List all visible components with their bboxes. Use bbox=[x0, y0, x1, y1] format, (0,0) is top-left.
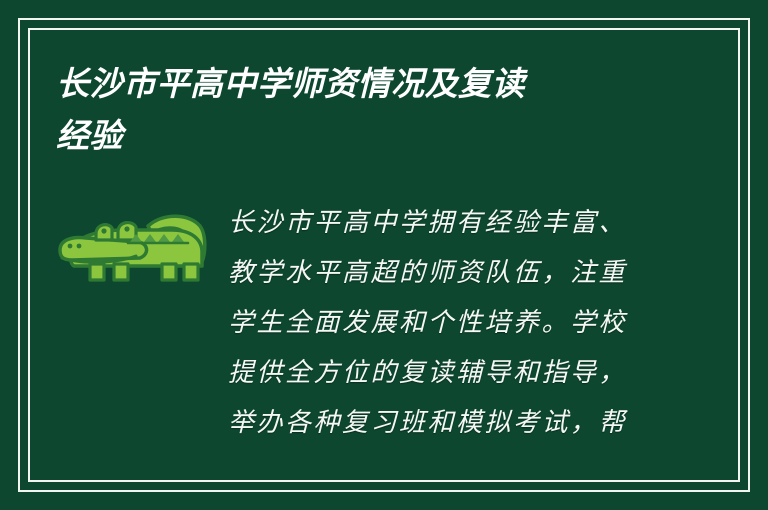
body-paragraph: 长沙市平高中学拥有经验丰富、 教学水平高超的师资队伍，注重 学生全面发展和个性培… bbox=[228, 198, 660, 448]
crocodile-icon bbox=[52, 196, 212, 292]
body-line: 提供全方位的复读辅导和指导， bbox=[228, 348, 660, 398]
body-line: 教学水平高超的师资队伍，注重 bbox=[228, 248, 660, 298]
poster-canvas: 长沙市平高中学师资情况及复读 经验 bbox=[0, 0, 768, 510]
body-line: 长沙市平高中学拥有经验丰富、 bbox=[228, 198, 660, 248]
body-line: 学生全面发展和个性培养。学校 bbox=[228, 298, 660, 348]
page-title-line-1: 长沙市平高中学师资情况及复读 bbox=[56, 58, 686, 110]
body-line: 举办各种复习班和模拟考试，帮 bbox=[228, 398, 660, 448]
page-title-line-2: 经验 bbox=[56, 110, 686, 162]
page-title: 长沙市平高中学师资情况及复读 经验 bbox=[56, 58, 686, 162]
